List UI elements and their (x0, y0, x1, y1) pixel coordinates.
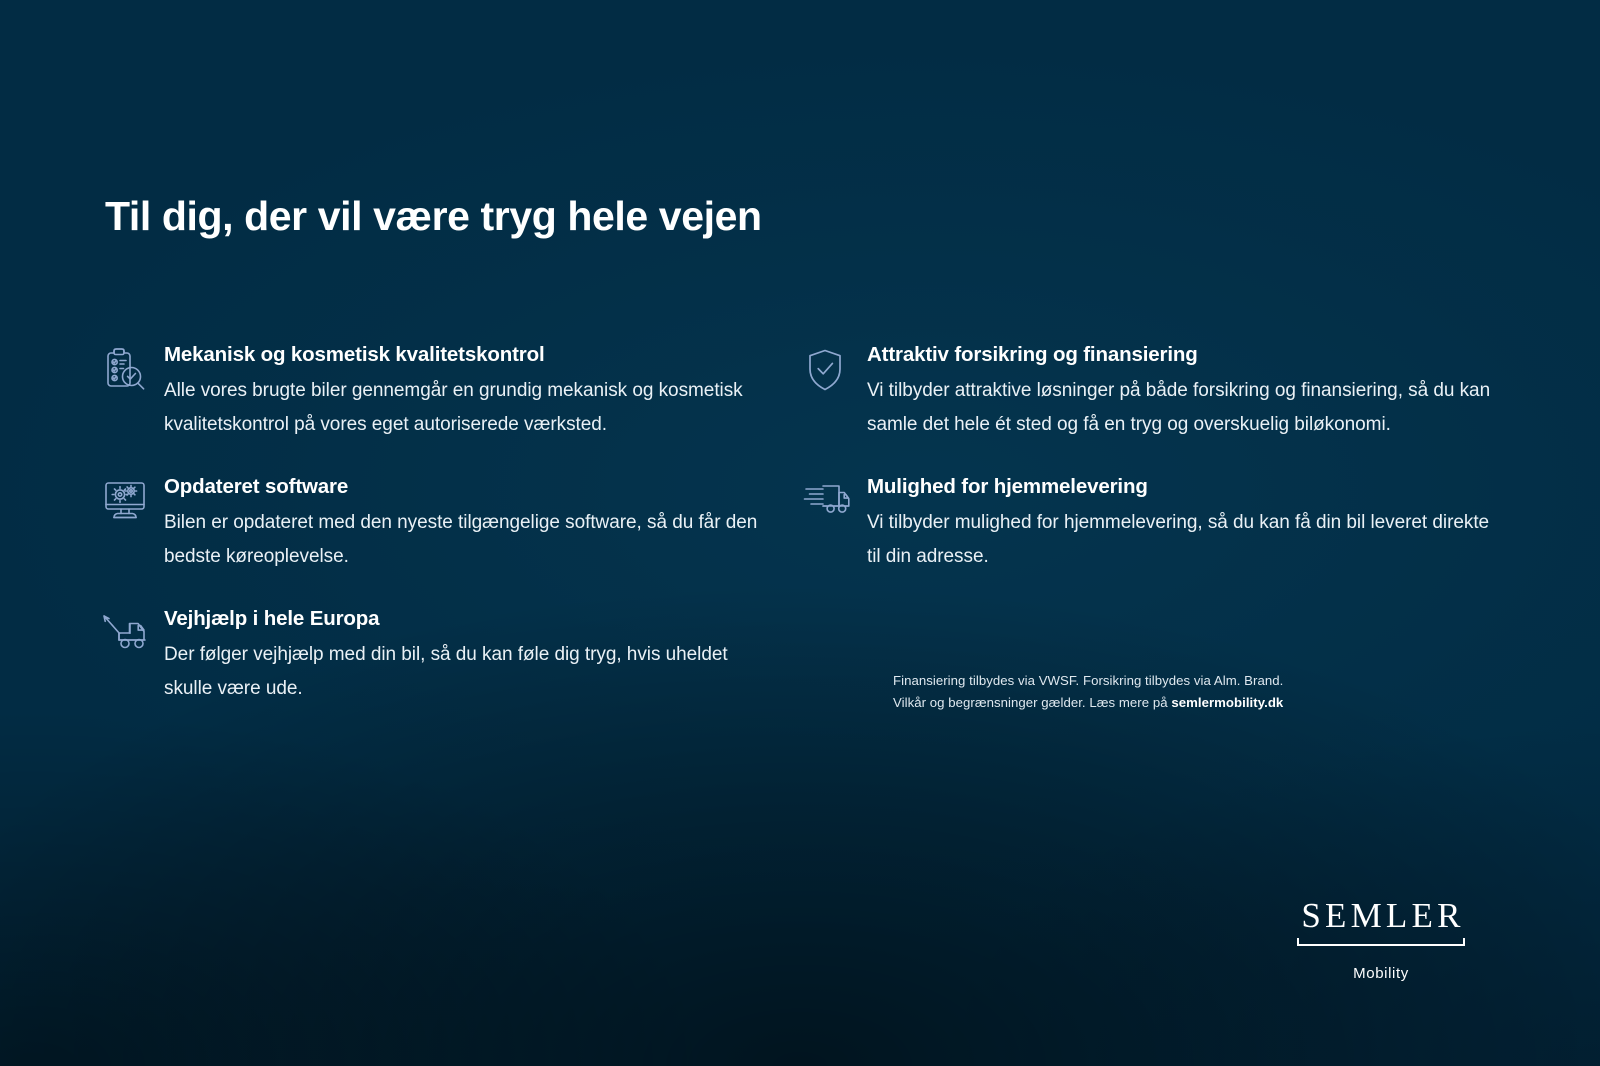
legal-disclaimer: Finansiering tilbydes via VWSF. Forsikri… (893, 670, 1413, 714)
feature-title: Vejhjælp i hele Europa (164, 606, 760, 632)
feature-body: Opdateret software Bilen er opdateret me… (164, 474, 760, 574)
feature-body: Attraktiv forsikring og finansiering Vi … (867, 342, 1503, 442)
feature-item-home-delivery: Mulighed for hjemmelevering Vi tilbyder … (803, 474, 1503, 574)
feature-text: Vi tilbyder mulighed for hjemmelevering,… (867, 506, 1503, 574)
disclaimer-line-1: Finansiering tilbydes via VWSF. Forsikri… (893, 670, 1413, 692)
promo-panel: Til dig, der vil være tryg hele vejen (0, 0, 1600, 1066)
feature-title: Mekanisk og kosmetisk kvalitetskontrol (164, 342, 760, 368)
feature-item-updated-software: Opdateret software Bilen er opdateret me… (100, 474, 760, 574)
logo-wordmark: SEMLER (1297, 898, 1465, 933)
monitor-gears-icon (100, 474, 164, 526)
tow-truck-icon (100, 606, 164, 658)
feature-body: Mulighed for hjemmelevering Vi tilbyder … (867, 474, 1503, 574)
logo-rule-tick-right (1463, 938, 1465, 946)
logo-rule-bar (1297, 944, 1465, 946)
feature-body: Vejhjælp i hele Europa Der følger vejhjæ… (164, 606, 760, 706)
logo-subtext: Mobility (1297, 965, 1465, 982)
feature-title: Attraktiv forsikring og finansiering (867, 342, 1503, 368)
disclaimer-website-link[interactable]: semlermobility.dk (1171, 695, 1283, 710)
feature-body: Mekanisk og kosmetisk kvalitetskontrol A… (164, 342, 760, 442)
page-title: Til dig, der vil være tryg hele vejen (105, 193, 762, 240)
feature-text: Vi tilbyder attraktive løsninger på både… (867, 374, 1503, 442)
logo-rule-tick-left (1297, 938, 1299, 946)
feature-column-right: Attraktiv forsikring og finansiering Vi … (803, 342, 1503, 608)
feature-text: Alle vores brugte biler gennemgår en gru… (164, 374, 760, 442)
feature-title: Mulighed for hjemmelevering (867, 474, 1503, 500)
feature-item-insurance-financing: Attraktiv forsikring og finansiering Vi … (803, 342, 1503, 442)
disclaimer-line-2-text: Vilkår og begrænsninger gælder. Læs mere… (893, 695, 1171, 710)
delivery-truck-icon (803, 474, 867, 526)
feature-title: Opdateret software (164, 474, 760, 500)
shield-check-icon (803, 342, 867, 394)
feature-item-quality-control: Mekanisk og kosmetisk kvalitetskontrol A… (100, 342, 760, 442)
feature-item-roadside-assistance: Vejhjælp i hele Europa Der følger vejhjæ… (100, 606, 760, 706)
clipboard-check-magnifier-icon (100, 342, 164, 394)
feature-column-left: Mekanisk og kosmetisk kvalitetskontrol A… (100, 342, 760, 740)
feature-text: Bilen er opdateret med den nyeste tilgæn… (164, 506, 760, 574)
feature-text: Der følger vejhjælp med din bil, så du k… (164, 638, 760, 706)
disclaimer-line-2: Vilkår og begrænsninger gælder. Læs mere… (893, 692, 1413, 714)
logo-rule (1297, 944, 1465, 956)
semler-mobility-logo: SEMLER Mobility (1297, 898, 1465, 982)
